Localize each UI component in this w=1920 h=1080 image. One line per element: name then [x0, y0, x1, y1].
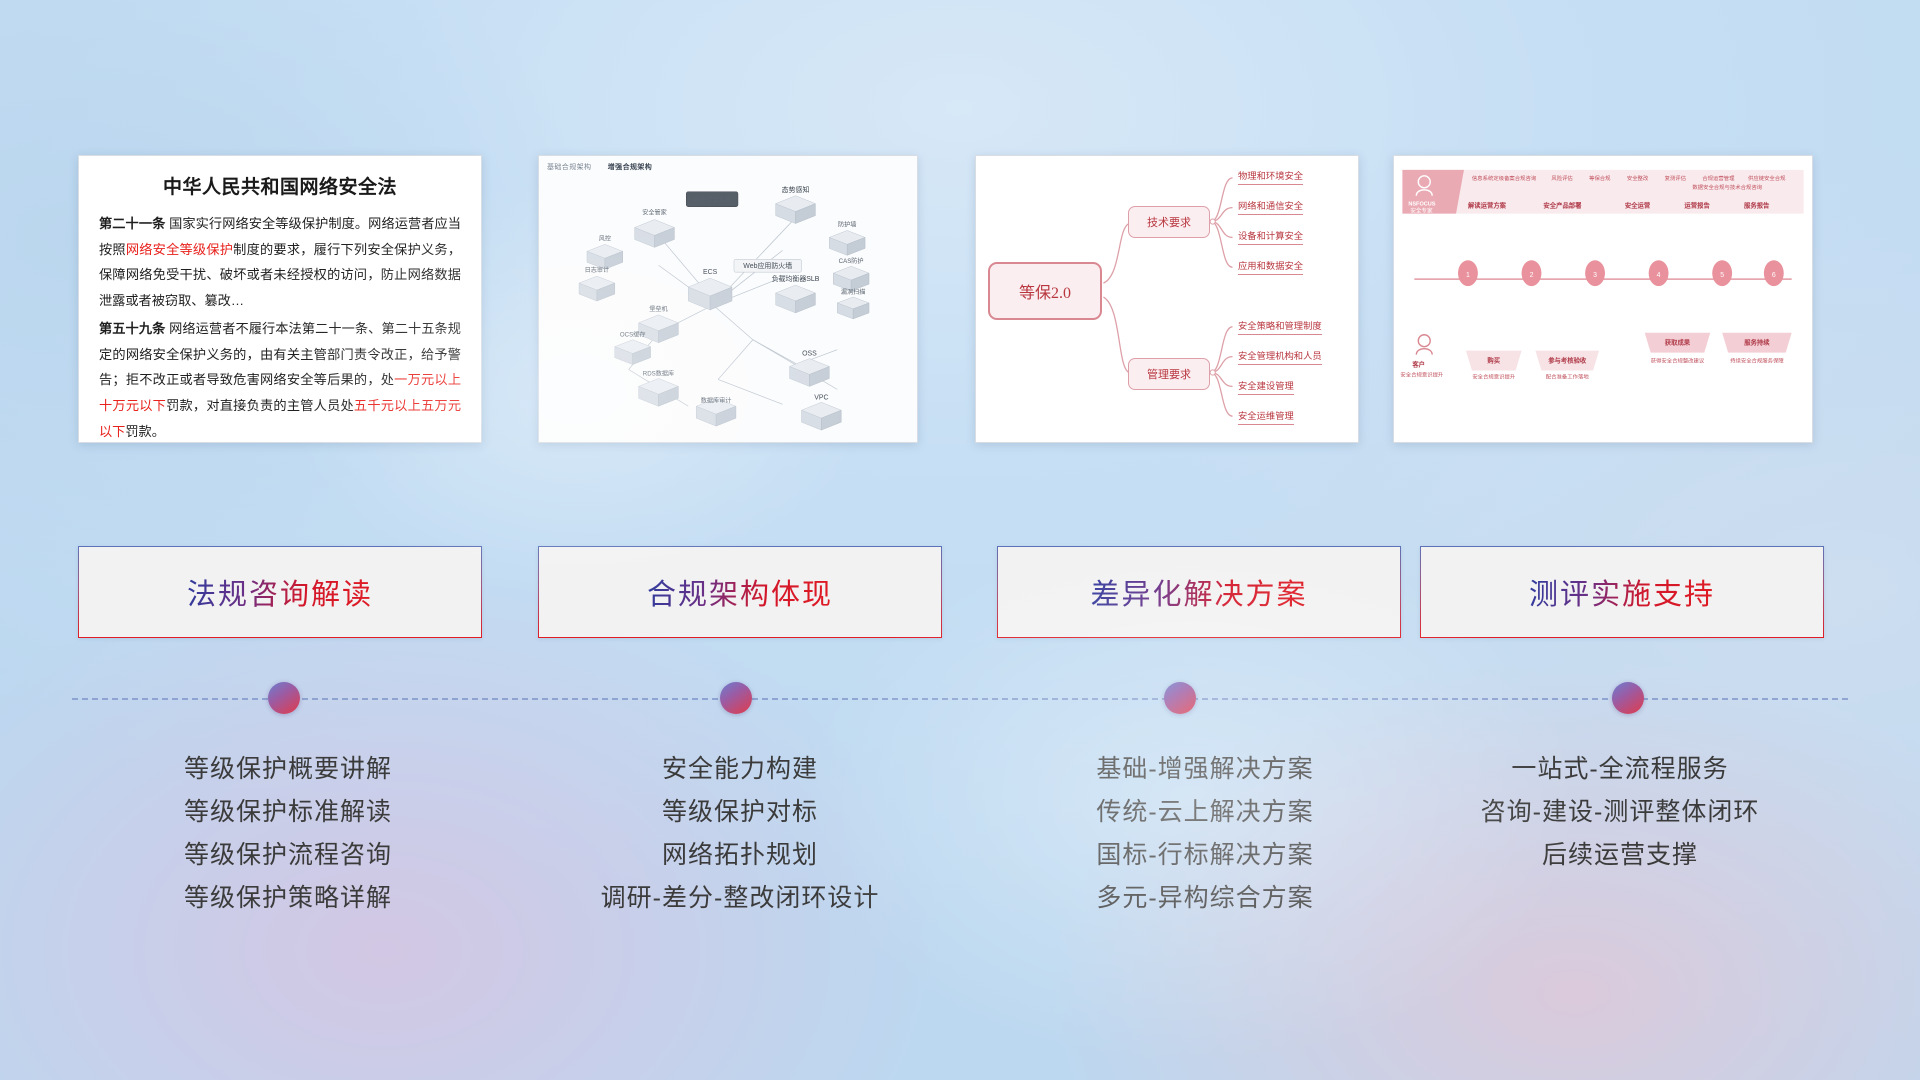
- list-item: 基础-增强解决方案: [985, 748, 1425, 791]
- title-box-assessment-support[interactable]: 测评实施支持: [1420, 546, 1824, 638]
- svg-text:1: 1: [1466, 272, 1470, 279]
- svg-text:数据库审计: 数据库审计: [701, 396, 732, 404]
- list-item: 传统-云上解决方案: [985, 791, 1425, 834]
- node-security-butler: 安全管家: [635, 209, 675, 248]
- svg-text:安全管家: 安全管家: [642, 209, 667, 217]
- svg-text:6: 6: [1772, 272, 1776, 279]
- mid-title-1: 参与考核验收: [1548, 356, 1587, 365]
- mindmap-branch-technical-label: 技术要求: [1147, 214, 1191, 230]
- list-item: 咨询-建设-测评整体闭环: [1400, 791, 1840, 834]
- thumbnail-cybersecurity-law[interactable]: 中华人民共和国网络安全法 第二十一条 国家实行网络安全等级保护制度。网络运营者应…: [78, 155, 482, 443]
- mindmap-leaf-device-compute: 设备和计算安全: [1238, 228, 1303, 245]
- timeline: [72, 698, 1848, 700]
- right-caption-1: 持续安全合规服务保障: [1730, 357, 1784, 365]
- list-item: 后续运营支撑: [1400, 834, 1840, 877]
- svg-text:5: 5: [1720, 272, 1724, 279]
- list-item: 等级保护对标: [520, 791, 960, 834]
- timeline-dot-3[interactable]: [1164, 682, 1196, 714]
- right-title-1: 服务持续: [1744, 338, 1770, 347]
- architecture-diagram: 基础合规架构 增强合规架构: [539, 156, 917, 442]
- svg-text:2: 2: [1530, 272, 1534, 279]
- article-21-label: 第二十一条: [99, 216, 165, 231]
- title-box-regulation-consulting[interactable]: 法规咨询解读: [78, 546, 482, 638]
- list-item: 国标-行标解决方案: [985, 834, 1425, 877]
- expert-label-1: 风险评估: [1551, 174, 1573, 182]
- mindmap-leaf-ops-mgmt: 安全运维管理: [1238, 408, 1294, 425]
- node-oss: OSS: [790, 351, 830, 387]
- thumbnail-compliance-architecture[interactable]: 基础合规架构 增强合规架构: [538, 155, 918, 443]
- client-role: 客户: [1412, 360, 1425, 369]
- node-cas-protection: CAS防护: [833, 257, 869, 291]
- mid-title-0: 购买: [1487, 356, 1500, 365]
- node-waf: Web应用防火墙: [734, 259, 802, 272]
- article-21-highlight: 网络安全等级保护: [126, 242, 233, 257]
- mindmap-branch-management: 管理要求: [1128, 358, 1210, 390]
- stage-label-2: 安全运营: [1625, 201, 1651, 210]
- list-item: 等级保护概要讲解: [78, 748, 498, 791]
- nsfocus-flow: NSFOCUS 安全专家 信息系统定级备案合规咨询 风险评估 等保合规 安全整改…: [1394, 156, 1812, 442]
- thumbnail-row: 中华人民共和国网络安全法 第二十一条 国家实行网络安全等级保护制度。网络运营者应…: [0, 155, 1920, 445]
- title-box-differentiated-solution[interactable]: 差异化解决方案: [997, 546, 1401, 638]
- mindmap-leaf-physical-env: 物理和环境安全: [1238, 168, 1303, 185]
- node-security-brain: 网络安全大脑: [686, 192, 738, 207]
- node-ecs: ECS: [688, 269, 732, 310]
- svg-text:OSS: OSS: [802, 351, 817, 358]
- mid-caption-0: 安全合规意识提升: [1472, 372, 1516, 380]
- mindmap-root-label: 等保2.0: [1019, 279, 1071, 303]
- expert-label-3: 安全整改: [1627, 174, 1649, 182]
- mindmap-leaf-policy-system: 安全策略和管理制度: [1238, 318, 1322, 335]
- expert-label-7: 数据安全合规与技术合规咨询: [1692, 183, 1762, 191]
- svg-text:风控: 风控: [599, 234, 611, 242]
- article-59-text-b: 罚款，对直接负责的主管人员处: [166, 398, 354, 413]
- svg-text:RDS数据库: RDS数据库: [643, 369, 674, 377]
- node-slb: 负载均衡器SLB: [772, 274, 820, 313]
- slide-canvas: 中华人民共和国网络安全法 第二十一条 国家实行网络安全等级保护制度。网络运营者应…: [0, 0, 1920, 1080]
- svg-text:3: 3: [1593, 272, 1597, 279]
- timeline-dashed-line: [72, 698, 1848, 700]
- mindmap-root: 等保2.0: [988, 262, 1102, 320]
- law-body: 第二十一条 国家实行网络安全等级保护制度。网络运营者应当按照网络安全等级保护制度…: [99, 211, 461, 443]
- detail-column-3: 基础-增强解决方案 传统-云上解决方案 国标-行标解决方案 多元-异构综合方案: [985, 748, 1425, 920]
- expert-label-2: 等保合规: [1589, 174, 1611, 182]
- svg-text:负载均衡器SLB: 负载均衡器SLB: [772, 274, 820, 283]
- timeline-dot-1[interactable]: [268, 682, 300, 714]
- law-article-21: 第二十一条 国家实行网络安全等级保护制度。网络运营者应当按照网络安全等级保护制度…: [99, 211, 461, 314]
- law-article-59: 第五十九条 网络运营者不履行本法第二十一条、第二十五条规定的网络安全保护义务的，…: [99, 316, 461, 443]
- expert-label-0: 信息系统定级备案合规咨询: [1472, 174, 1537, 182]
- node-vuln-scan: 漏洞扫描: [837, 288, 869, 319]
- title-label-2: 差异化解决方案: [1090, 571, 1307, 613]
- svg-text:OCS缓存: OCS缓存: [620, 331, 646, 339]
- article-59-label: 第五十九条: [99, 321, 165, 336]
- stage-label-3: 运营报告: [1684, 201, 1710, 210]
- node-vpc: VPC: [801, 394, 841, 430]
- svg-text:网络安全大脑: 网络安全大脑: [694, 196, 731, 204]
- architecture-svg: 网络安全大脑 安全管家 风控: [539, 156, 917, 442]
- timeline-dot-2[interactable]: [720, 682, 752, 714]
- node-log-audit: 日志审计: [579, 266, 615, 301]
- svg-text:Web应用防火墙: Web应用防火墙: [743, 261, 792, 270]
- mindmap: 等保2.0 技术要求 物理和环境安全 网络和通信安全 设备和计算安全 应用和数据…: [976, 156, 1358, 442]
- right-title-0: 获取成果: [1664, 338, 1691, 347]
- nsfocus-brand: NSFOCUS: [1408, 202, 1435, 208]
- mindmap-leaf-app-data: 应用和数据安全: [1238, 258, 1303, 275]
- title-box-compliance-architecture[interactable]: 合规架构体现: [538, 546, 942, 638]
- detail-column-4: 一站式-全流程服务 咨询-建设-测评整体闭环 后续运营支撑: [1400, 748, 1840, 877]
- list-item: 等级保护标准解读: [78, 791, 498, 834]
- title-label-3: 测评实施支持: [1529, 571, 1715, 613]
- stage-label-0: 解读运营方案: [1468, 201, 1507, 210]
- mindmap-leaf-org-personnel: 安全管理机构和人员: [1238, 348, 1322, 365]
- svg-text:堡垒机: 堡垒机: [649, 305, 667, 313]
- list-item: 安全能力构建: [520, 748, 960, 791]
- step-markers: 1 2 3 4 5 6: [1458, 260, 1784, 286]
- right-caption-0: 获得安全合规整改建议: [1651, 357, 1705, 365]
- expert-label-4: 复测评估: [1665, 174, 1687, 182]
- detail-column-2: 安全能力构建 等级保护对标 网络拓扑规划 调研-差分-整改闭环设计: [520, 748, 960, 920]
- svg-text:CAS防护: CAS防护: [839, 257, 864, 265]
- article-59-text-c: 罚款。: [125, 424, 165, 439]
- list-item: 等级保护流程咨询: [78, 834, 498, 877]
- law-card: 中华人民共和国网络安全法 第二十一条 国家实行网络安全等级保护制度。网络运营者应…: [79, 156, 481, 443]
- timeline-dot-4[interactable]: [1612, 682, 1644, 714]
- list-item: 多元-异构综合方案: [985, 877, 1425, 920]
- thumbnail-nsfocus-service-flow[interactable]: NSFOCUS 安全专家 信息系统定级备案合规咨询 风险评估 等保合规 安全整改…: [1393, 155, 1813, 443]
- nsfocus-flow-svg: NSFOCUS 安全专家 信息系统定级备案合规咨询 风险评估 等保合规 安全整改…: [1394, 156, 1812, 442]
- svg-text:ECS: ECS: [703, 269, 718, 276]
- stage-label-1: 安全产品部署: [1543, 201, 1582, 210]
- thumbnail-dengbao-mindmap[interactable]: 等保2.0 技术要求 物理和环境安全 网络和通信安全 设备和计算安全 应用和数据…: [975, 155, 1359, 443]
- title-label-0: 法规咨询解读: [187, 571, 373, 613]
- node-situational-awareness: 态势感知: [776, 185, 816, 224]
- mindmap-branch-technical: 技术要求: [1128, 206, 1210, 238]
- svg-text:态势感知: 态势感知: [782, 185, 810, 194]
- svg-text:漏洞扫描: 漏洞扫描: [841, 288, 866, 296]
- node-risk-control: 风控: [587, 234, 623, 269]
- list-item: 一站式-全流程服务: [1400, 748, 1840, 791]
- mindmap-branch-management-label: 管理要求: [1147, 366, 1191, 382]
- svg-text:防护墙: 防护墙: [838, 221, 856, 229]
- node-db-audit: 数据库审计: [696, 396, 736, 426]
- list-item: 调研-差分-整改闭环设计: [520, 877, 960, 920]
- title-row: 法规咨询解读 合规架构体现 差异化解决方案 测评实施支持: [0, 546, 1920, 642]
- client-caption: 安全合规意识提升: [1400, 370, 1444, 378]
- expert-label-6: 供应链安全合规: [1748, 174, 1786, 182]
- node-rds-db: RDS数据库: [639, 369, 679, 406]
- list-item: 等级保护策略详解: [78, 877, 498, 920]
- mid-caption-1: 配合准备工作落地: [1546, 372, 1590, 380]
- detail-column-1: 等级保护概要讲解 等级保护标准解读 等级保护流程咨询 等级保护策略详解: [78, 748, 498, 920]
- mindmap-leaf-construction-mgmt: 安全建设管理: [1238, 378, 1294, 395]
- svg-text:日志审计: 日志审计: [585, 266, 610, 274]
- list-item: 网络拓扑规划: [520, 834, 960, 877]
- detail-columns: 等级保护概要讲解 等级保护标准解读 等级保护流程咨询 等级保护策略详解 安全能力…: [0, 748, 1920, 998]
- expert-label-5: 合规运营管理: [1702, 174, 1735, 182]
- nsfocus-brand-sub: 安全专家: [1410, 207, 1433, 215]
- law-title: 中华人民共和国网络安全法: [99, 172, 461, 199]
- node-ocs-cache: OCS缓存: [615, 331, 651, 365]
- node-firewall: 防护墙: [829, 221, 865, 256]
- title-label-1: 合规架构体现: [647, 571, 833, 613]
- mindmap-leaf-network-comm: 网络和通信安全: [1238, 198, 1303, 215]
- svg-text:4: 4: [1657, 272, 1661, 279]
- svg-text:VPC: VPC: [814, 394, 828, 401]
- stage-label-4: 服务报告: [1744, 201, 1770, 210]
